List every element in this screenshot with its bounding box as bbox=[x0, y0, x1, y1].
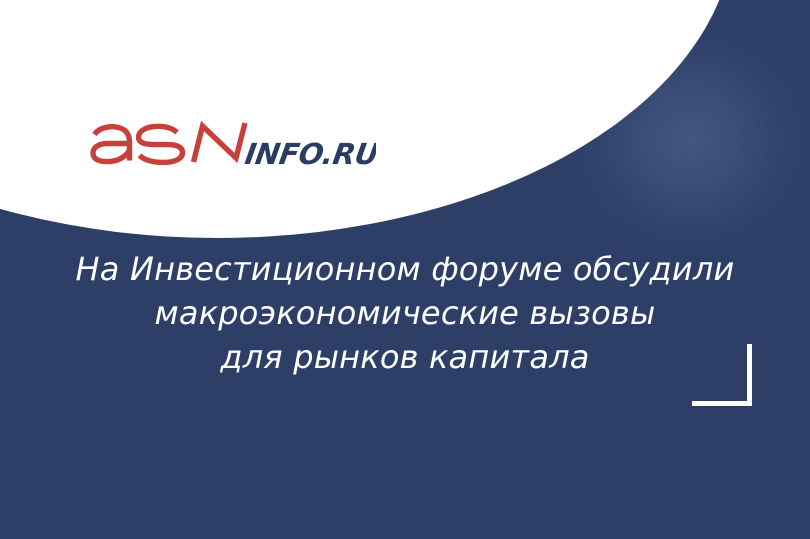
news-share-card: INFO.RU На Инвестиционном форуме обсудил… bbox=[0, 0, 810, 539]
bracket-vertical-stroke bbox=[747, 344, 752, 406]
headline-line-3: для рынков капитала bbox=[0, 335, 810, 379]
headline-line-1: На Инвестиционном форуме обсудили bbox=[0, 247, 810, 291]
corner-bracket-bottom-right bbox=[692, 344, 752, 406]
headline-line-2: макроэкономические вызовы bbox=[0, 291, 810, 335]
svg-text:INFO.RU: INFO.RU bbox=[243, 137, 376, 171]
asninfo-ru-logo[interactable]: INFO.RU bbox=[86, 112, 376, 174]
logo-artwork: INFO.RU bbox=[86, 112, 376, 174]
headline: На Инвестиционном форуме обсудили макроэ… bbox=[0, 247, 810, 379]
bracket-horizontal-stroke bbox=[692, 401, 752, 406]
